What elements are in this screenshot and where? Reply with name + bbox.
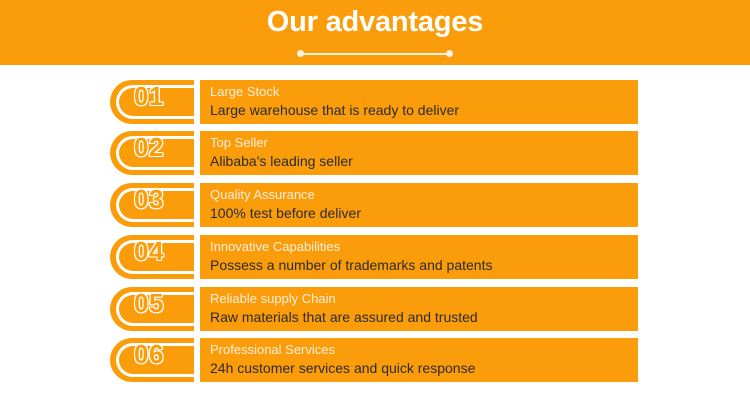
advantage-item-05: 05 Reliable supply Chain Raw materials t…	[110, 287, 638, 331]
advantage-description-02: Alibaba's leading seller	[210, 152, 630, 171]
number-label-01: 01	[110, 80, 188, 114]
header-divider	[297, 50, 453, 57]
number-label-04: 04	[110, 235, 188, 269]
divider-rule	[301, 53, 449, 55]
advantage-item-01: 01 Large Stock Large warehouse that is r…	[110, 80, 638, 124]
advantages-infographic: Our advantages 01 Large Stock Large ware…	[0, 0, 750, 400]
advantage-description-03: 100% test before deliver	[210, 204, 630, 223]
number-label-02: 02	[110, 131, 188, 165]
number-badge-cap-03	[194, 183, 200, 227]
advantage-title-06: Professional Services	[210, 340, 630, 359]
number-badge-cap-04	[194, 235, 200, 279]
number-label-06: 06	[110, 338, 188, 372]
advantage-title-04: Innovative Capabilities	[210, 237, 630, 256]
advantage-title-05: Reliable supply Chain	[210, 289, 630, 308]
header-banner: Our advantages	[0, 0, 750, 65]
advantage-description-04: Possess a number of trademarks and paten…	[210, 256, 630, 275]
advantage-title-01: Large Stock	[210, 82, 630, 101]
number-badge-cap-06	[194, 338, 200, 382]
number-badge-cap-05	[194, 287, 200, 331]
advantage-item-04: 04 Innovative Capabilities Possess a num…	[110, 235, 638, 279]
number-badge-cap-02	[194, 131, 200, 175]
number-badge-cap-01	[194, 80, 200, 124]
page-title: Our advantages	[0, 5, 750, 39]
advantage-item-02: 02 Top Seller Alibaba's leading seller	[110, 131, 638, 175]
divider-dot-right-icon	[446, 50, 453, 57]
number-label-03: 03	[110, 183, 188, 217]
advantage-text-04: Innovative Capabilities Possess a number…	[210, 237, 630, 277]
advantage-text-05: Reliable supply Chain Raw materials that…	[210, 289, 630, 329]
advantage-description-05: Raw materials that are assured and trust…	[210, 308, 630, 327]
advantage-text-03: Quality Assurance 100% test before deliv…	[210, 185, 630, 225]
advantage-text-01: Large Stock Large warehouse that is read…	[210, 82, 630, 122]
advantage-title-02: Top Seller	[210, 133, 630, 152]
advantage-text-06: Professional Services 24h customer servi…	[210, 340, 630, 380]
advantage-text-02: Top Seller Alibaba's leading seller	[210, 133, 630, 173]
advantages-list: 01 Large Stock Large warehouse that is r…	[0, 65, 750, 400]
number-label-05: 05	[110, 287, 188, 321]
advantage-item-03: 03 Quality Assurance 100% test before de…	[110, 183, 638, 227]
advantage-title-03: Quality Assurance	[210, 185, 630, 204]
advantage-description-06: 24h customer services and quick response	[210, 359, 630, 378]
advantage-description-01: Large warehouse that is ready to deliver	[210, 101, 630, 120]
advantage-item-06: 06 Professional Services 24h customer se…	[110, 338, 638, 382]
